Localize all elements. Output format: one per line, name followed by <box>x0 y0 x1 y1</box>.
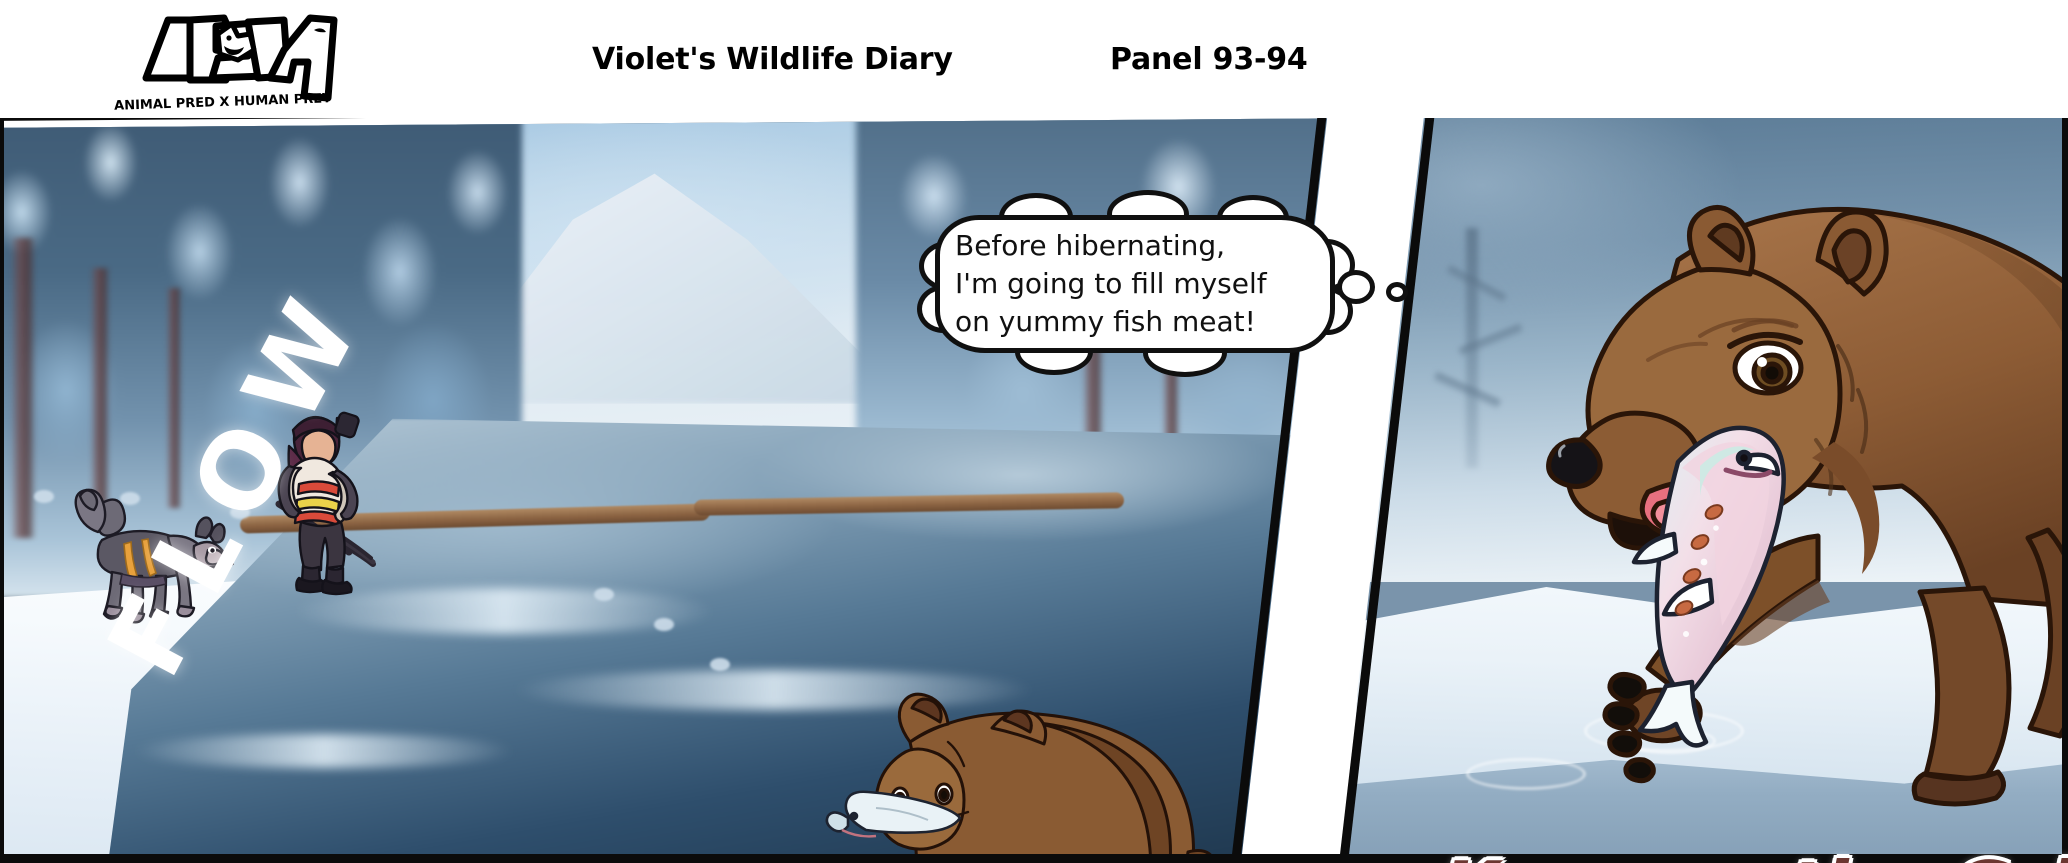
snow-footprint <box>594 588 614 601</box>
brown-bear-with-fish <box>814 658 1234 863</box>
logo-tagline-text: ANIMAL PRED X HUMAN PREY <box>114 91 333 114</box>
page-header: ANIMAL PRED X HUMAN PREY Violet's Wildli… <box>0 0 2068 118</box>
snow-footprint <box>710 658 730 671</box>
snow-footprint <box>654 618 674 631</box>
page-title: Violet's Wildlife Diary <box>592 42 953 77</box>
snow-footprint <box>34 490 54 503</box>
artcat-logo: ANIMAL PRED X HUMAN PREY <box>98 6 348 114</box>
panel-left-side-border <box>0 110 4 863</box>
character-name-caption: Kuumar the Grizzly <box>1443 846 2068 863</box>
comic-page: ANIMAL PRED X HUMAN PREY Violet's Wildli… <box>0 0 2068 863</box>
violet-hiker <box>249 408 389 598</box>
water-highlight <box>134 734 514 768</box>
kuumar-grizzly <box>1348 110 2068 863</box>
tree-trunk <box>10 238 36 538</box>
thought-tail-dot-small <box>1386 282 1408 302</box>
thought-tail-dot-large <box>1337 270 1375 304</box>
thought-bubble: Before hibernating, I'm going to fill my… <box>935 215 1335 353</box>
sled-dog <box>72 488 232 623</box>
bubble-text: Before hibernating, I'm going to fill my… <box>955 227 1325 341</box>
panel-right-grizzly-closeup <box>1348 110 2068 863</box>
panel-right-side-border <box>2062 110 2068 863</box>
snow-footprint <box>230 506 250 519</box>
right-panel-scene <box>1348 110 2068 863</box>
comic-strip: FLOW <box>0 110 2068 863</box>
panel-number-label: Panel 93-94 <box>1110 42 1308 77</box>
tree-trunk <box>166 288 182 508</box>
